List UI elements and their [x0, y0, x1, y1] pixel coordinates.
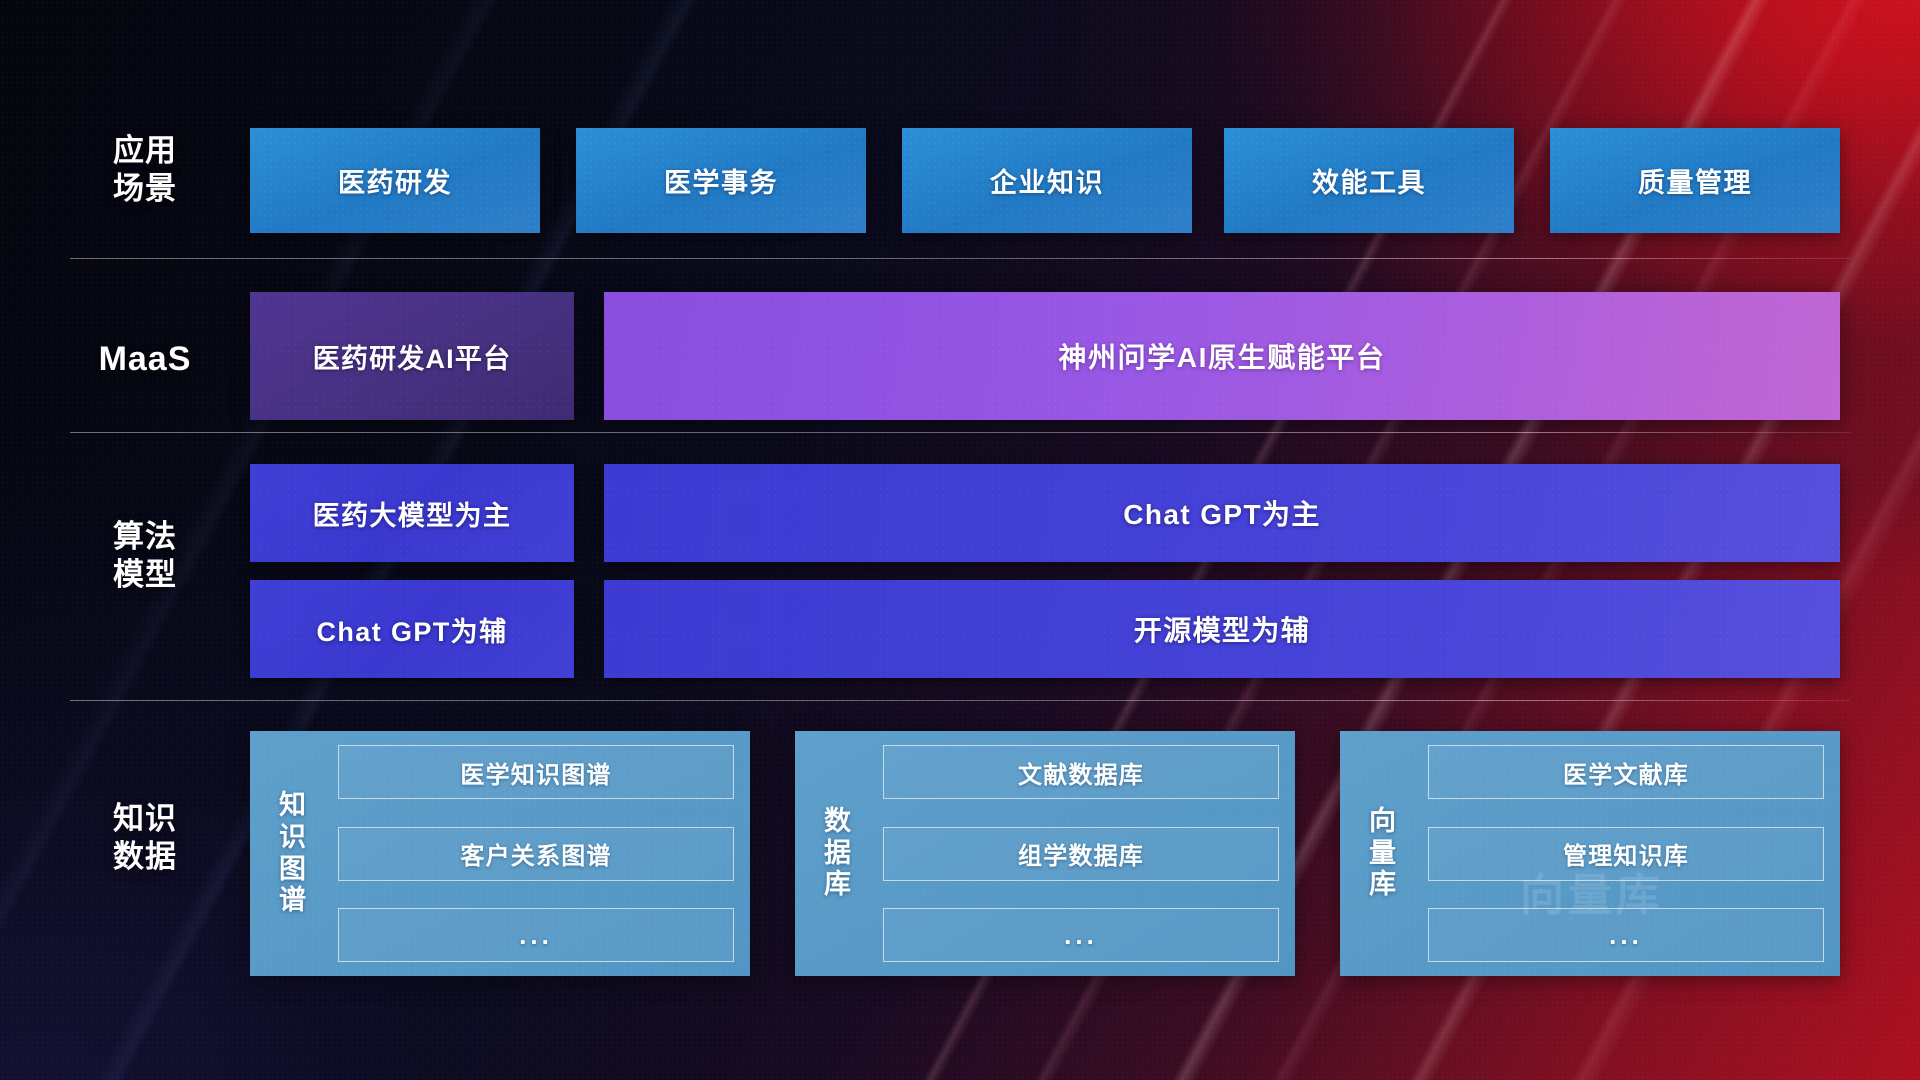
- app-box-label: 效能工具: [1312, 161, 1426, 200]
- knowledge-panel-items: 医学知识图谱 客户关系图谱 ...: [338, 745, 734, 962]
- knowledge-item[interactable]: 文献数据库: [883, 745, 1279, 799]
- knowledge-item-more[interactable]: ...: [338, 908, 734, 962]
- app-box-label: 医药研发: [338, 161, 452, 200]
- knowledge-item-more[interactable]: ...: [883, 908, 1279, 962]
- architecture-diagram: 应用 场景 医药研发 医学事务 企业知识 效能工具 质量管理 MaaS 医药研发…: [0, 0, 1920, 1080]
- app-box-label: 质量管理: [1638, 161, 1752, 200]
- row-label-application: 应用 场景: [70, 132, 220, 209]
- divider-maas-algorithm: [70, 432, 1850, 433]
- row-label-knowledge: 知识 数据: [70, 800, 220, 877]
- app-box-4[interactable]: 效能工具: [1224, 128, 1514, 233]
- maas-box-left[interactable]: 医药研发AI平台: [250, 292, 574, 420]
- maas-right-label: 神州问学AI原生赋能平台: [1058, 336, 1385, 376]
- divider-algorithm-knowledge: [70, 700, 1850, 701]
- algo-box-left-2[interactable]: Chat GPT为辅: [250, 580, 574, 678]
- row-label-maas: MaaS: [70, 338, 220, 380]
- knowledge-item[interactable]: 组学数据库: [883, 827, 1279, 881]
- knowledge-item[interactable]: 医学知识图谱: [338, 745, 734, 799]
- algo-box-left-1[interactable]: 医药大模型为主: [250, 464, 574, 562]
- algo-label: 医药大模型为主: [313, 494, 512, 533]
- app-box-3[interactable]: 企业知识: [902, 128, 1192, 233]
- knowledge-panel-title: 知 识 图 谱: [262, 790, 324, 917]
- knowledge-panel-3[interactable]: 向量库 向 量 库 医学文献库 管理知识库 ...: [1340, 731, 1840, 976]
- app-box-5[interactable]: 质量管理: [1550, 128, 1840, 233]
- divider-application-maas: [70, 258, 1850, 259]
- knowledge-item-more[interactable]: ...: [1428, 908, 1824, 962]
- algo-box-right-2[interactable]: 开源模型为辅: [604, 580, 1840, 678]
- knowledge-panel-2[interactable]: 数 据 库 文献数据库 组学数据库 ...: [795, 731, 1295, 976]
- knowledge-panel-items: 医学文献库 管理知识库 ...: [1428, 745, 1824, 962]
- knowledge-panel-1[interactable]: 知 识 图 谱 医学知识图谱 客户关系图谱 ...: [250, 731, 750, 976]
- row-label-algorithm: 算法 模型: [70, 518, 220, 595]
- algo-box-right-1[interactable]: Chat GPT为主: [604, 464, 1840, 562]
- algo-label: Chat GPT为主: [1123, 493, 1321, 533]
- maas-box-right[interactable]: 神州问学AI原生赋能平台: [604, 292, 1840, 420]
- algo-label: Chat GPT为辅: [316, 610, 507, 649]
- diagram-rows: 应用 场景 医药研发 医学事务 企业知识 效能工具 质量管理 MaaS 医药研发…: [0, 0, 1920, 1080]
- knowledge-panel-title: 数 据 库: [807, 806, 869, 902]
- knowledge-panel-items: 文献数据库 组学数据库 ...: [883, 745, 1279, 962]
- app-box-1[interactable]: 医药研发: [250, 128, 540, 233]
- app-box-label: 企业知识: [990, 161, 1104, 200]
- knowledge-panel-title: 向 量 库: [1352, 806, 1414, 902]
- knowledge-item[interactable]: 管理知识库: [1428, 827, 1824, 881]
- knowledge-item[interactable]: 客户关系图谱: [338, 827, 734, 881]
- app-box-label: 医学事务: [664, 161, 778, 200]
- app-box-2[interactable]: 医学事务: [576, 128, 866, 233]
- maas-left-label: 医药研发AI平台: [313, 337, 512, 376]
- algo-label: 开源模型为辅: [1134, 609, 1310, 649]
- knowledge-item[interactable]: 医学文献库: [1428, 745, 1824, 799]
